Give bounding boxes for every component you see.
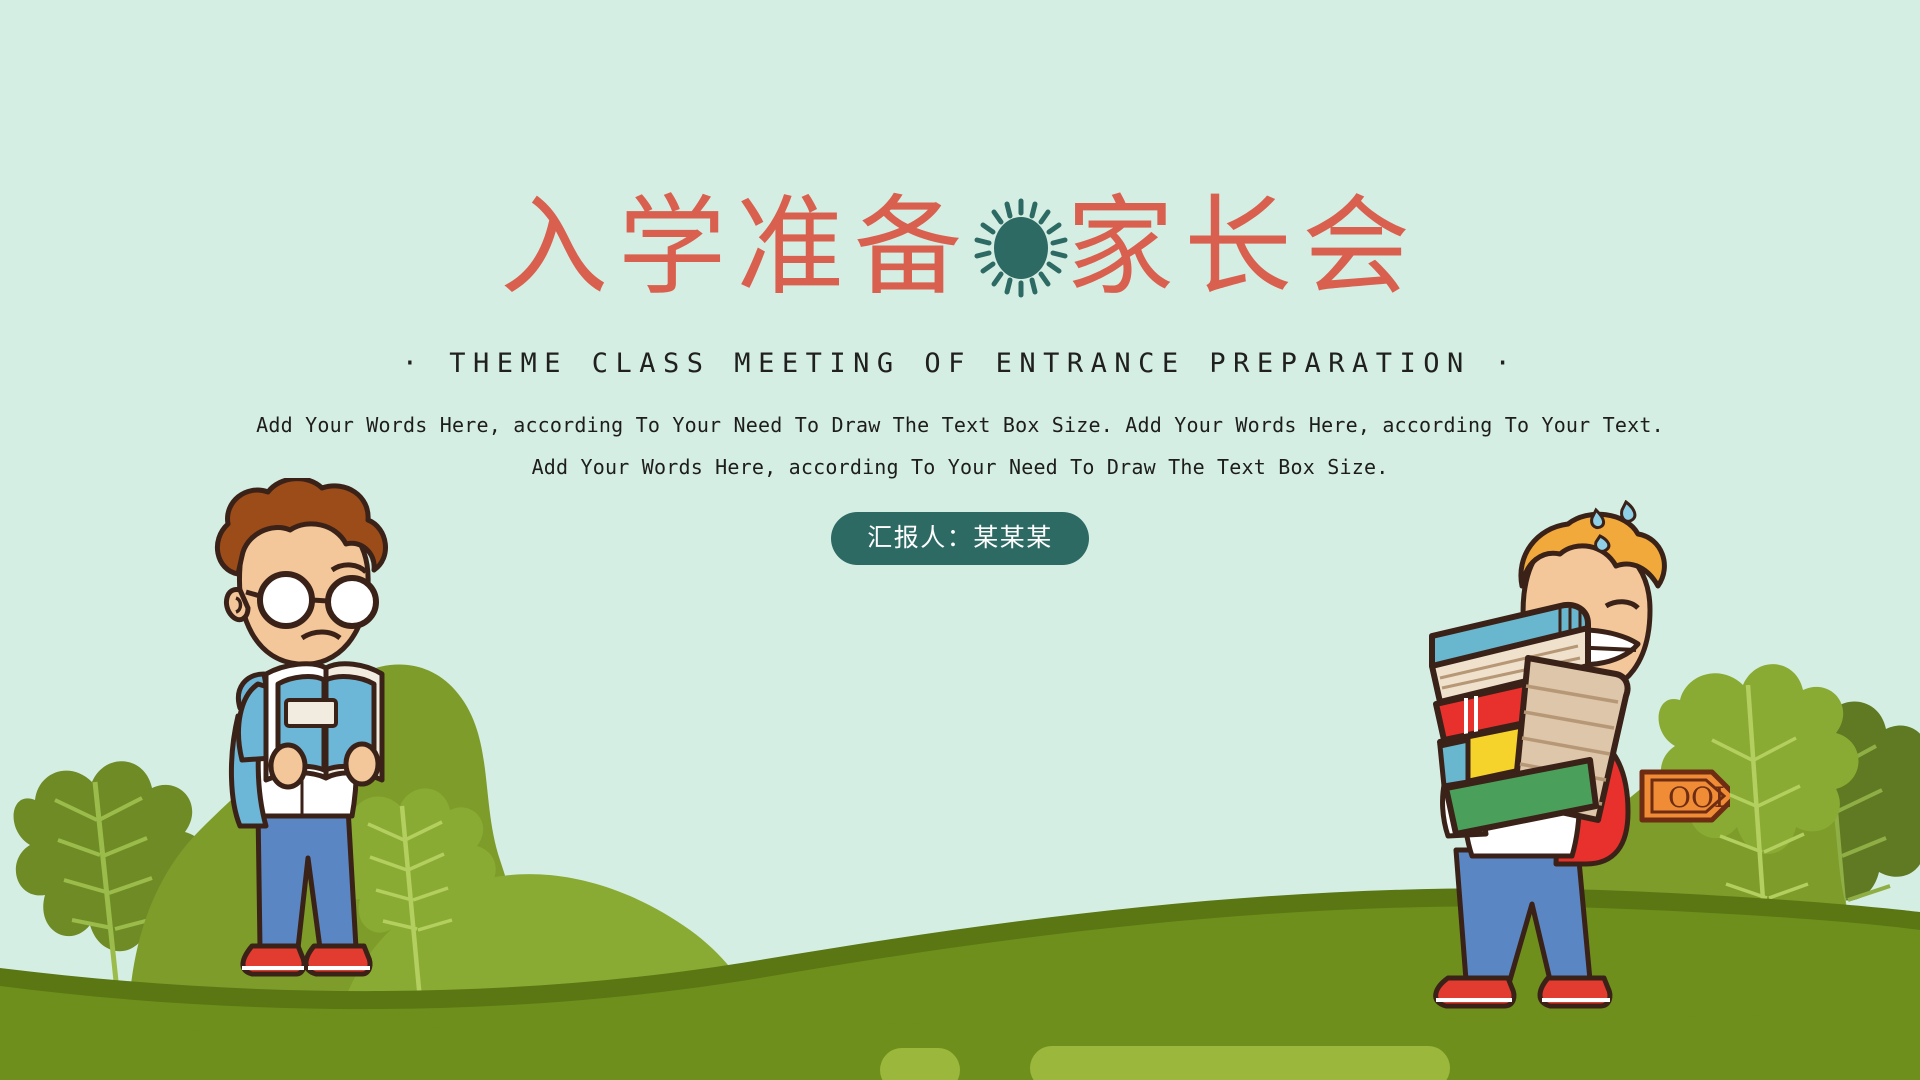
school-sign: OOL	[1642, 772, 1730, 820]
body-paragraph: Add Your Words Here, according To Your N…	[0, 404, 1920, 488]
subtitle: · THEME CLASS MEETING OF ENTRANCE PREPAR…	[0, 348, 1920, 379]
sun-icon	[970, 197, 1072, 299]
school-sign-text: OOL	[1668, 781, 1730, 814]
page-title: 入学准备	[0, 178, 1920, 318]
presentation-slide: OOL	[0, 0, 1920, 1080]
body-line-2: Add Your Words Here, according To Your N…	[0, 446, 1920, 488]
title-part-1: 入学准备	[500, 194, 972, 302]
stack-of-books	[1410, 570, 1640, 900]
body-line-1: Add Your Words Here, according To Your N…	[0, 404, 1920, 446]
presenter-badge[interactable]: 汇报人：某某某	[831, 512, 1089, 565]
shoe	[242, 946, 370, 974]
title-part-2: 家长会	[1066, 194, 1420, 302]
presenter-wrap: 汇报人：某某某	[0, 512, 1920, 565]
